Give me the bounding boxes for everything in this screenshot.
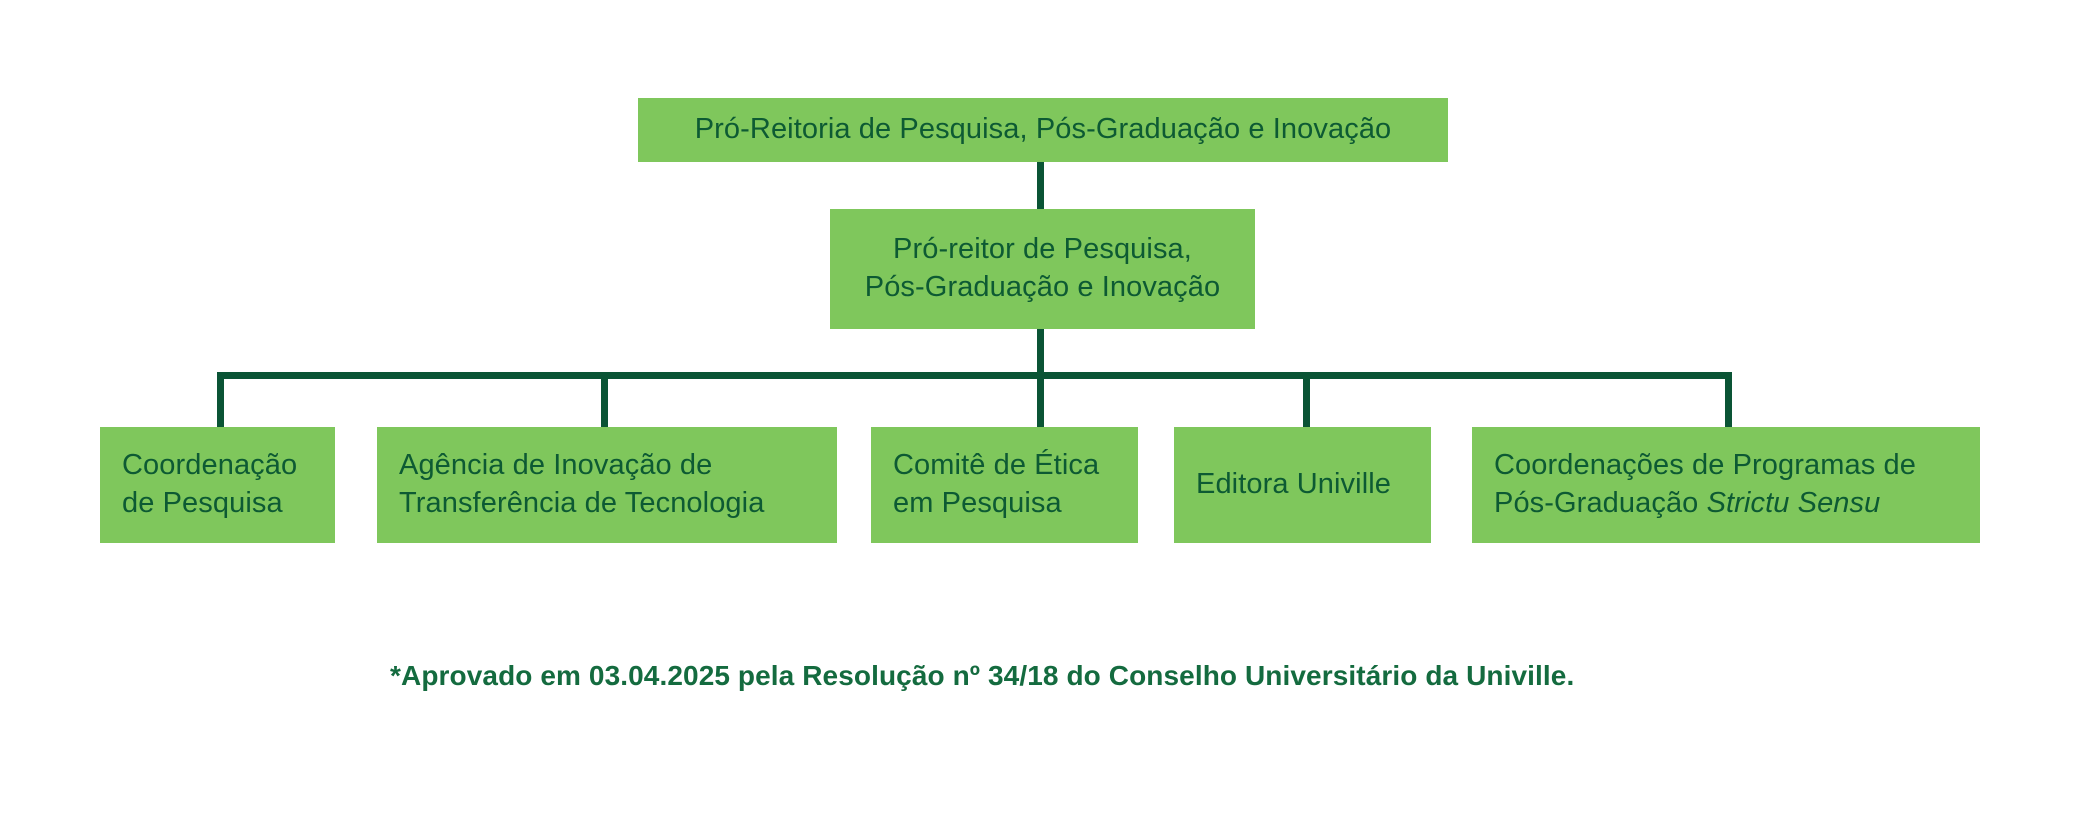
connector-drop-comite-etica	[1037, 372, 1044, 428]
footnote-approval-text: *Aprovado em 03.04.2025 pela Resolução n…	[390, 660, 1574, 691]
connector-drop-editora-univille	[1303, 372, 1310, 428]
connector-drop-agencia-inovacao	[601, 372, 608, 428]
node-coordenacoes-pos-graduacao-line1: Coordenações de Programas de	[1494, 449, 1916, 481]
node-comite-etica-label: Comitê de Ética em Pesquisa	[893, 447, 1138, 522]
node-pro-reitoria[interactable]: Pró-Reitoria de Pesquisa, Pós-Graduação …	[638, 98, 1448, 162]
connector-drop-coordenacoes-pos-graduacao	[1725, 372, 1732, 428]
org-chart-canvas: Pró-Reitoria de Pesquisa, Pós-Graduação …	[0, 0, 2084, 816]
node-coordenacao-pesquisa-label: Coordenação de Pesquisa	[122, 447, 335, 522]
node-coordenacao-pesquisa[interactable]: Coordenação de Pesquisa	[100, 427, 335, 543]
node-editora-univille[interactable]: Editora Univille	[1174, 427, 1431, 543]
connector-horizontal-bus	[217, 372, 1732, 379]
node-coordenacoes-pos-graduacao[interactable]: Coordenações de Programas dePós-Graduaçã…	[1472, 427, 1980, 543]
node-comite-etica[interactable]: Comitê de Ética em Pesquisa	[871, 427, 1138, 543]
connector-level1-to-level2	[1037, 162, 1044, 209]
node-editora-univille-label: Editora Univille	[1196, 466, 1431, 504]
node-coordenacoes-pos-graduacao-line2-prefix: Pós-Graduação	[1494, 487, 1707, 519]
node-pro-reitor-label: Pró-reitor de Pesquisa, Pós-Graduação e …	[830, 231, 1255, 306]
node-pro-reitoria-label: Pró-Reitoria de Pesquisa, Pós-Graduação …	[638, 111, 1448, 149]
node-coordenacoes-pos-graduacao-line2-italic: Strictu Sensu	[1707, 487, 1881, 519]
footnote-approval: *Aprovado em 03.04.2025 pela Resolução n…	[390, 660, 1574, 692]
node-agencia-inovacao[interactable]: Agência de Inovação de Transferência de …	[377, 427, 837, 543]
node-agencia-inovacao-label: Agência de Inovação de Transferência de …	[399, 447, 837, 522]
node-pro-reitor[interactable]: Pró-reitor de Pesquisa, Pós-Graduação e …	[830, 209, 1255, 329]
node-coordenacoes-pos-graduacao-label: Coordenações de Programas dePós-Graduaçã…	[1494, 447, 1980, 522]
connector-drop-coordenacao-pesquisa	[217, 372, 224, 428]
